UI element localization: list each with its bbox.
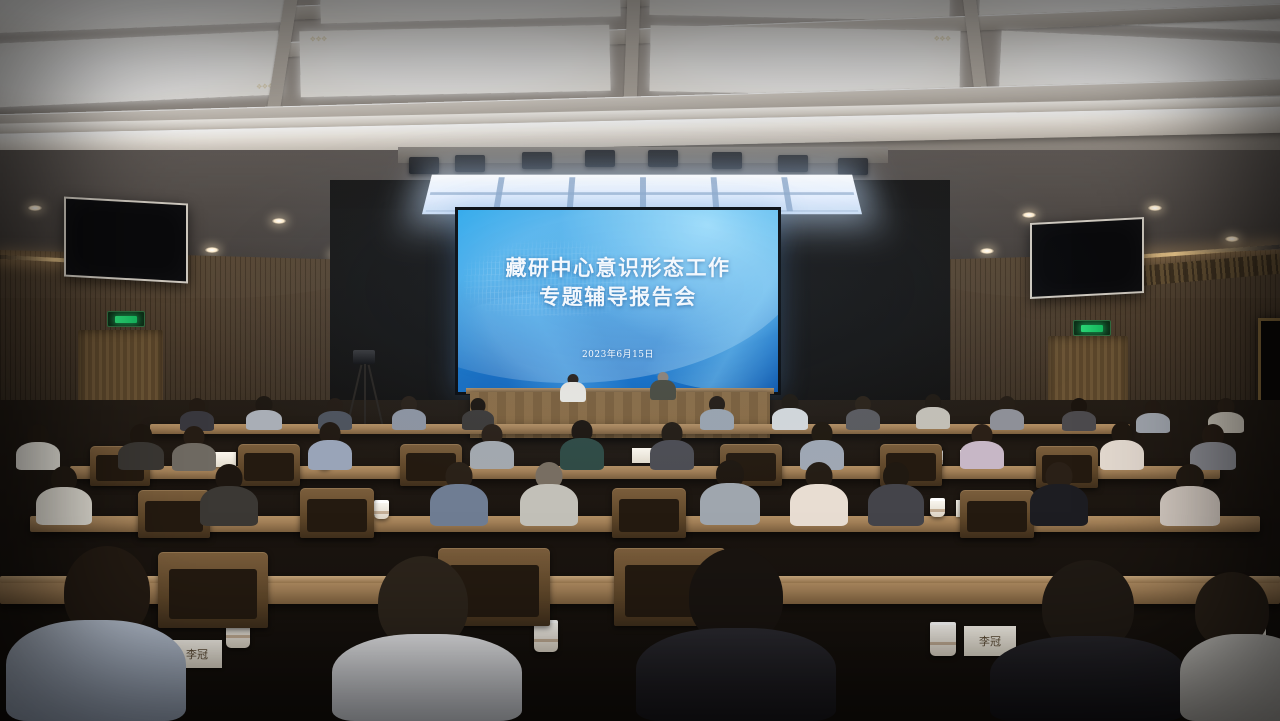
audience-person xyxy=(246,396,282,430)
audience-person xyxy=(520,462,578,524)
audience-person xyxy=(392,396,426,430)
paper-cup xyxy=(930,622,956,656)
person-body xyxy=(916,407,950,429)
speaker-right xyxy=(648,372,678,404)
audience-person xyxy=(36,466,92,524)
stage-spotlight xyxy=(409,157,439,174)
person-body xyxy=(1062,411,1096,431)
downlight xyxy=(205,247,219,253)
stage-spotlight xyxy=(838,158,868,175)
person-body xyxy=(246,410,282,430)
audience-chair[interactable] xyxy=(960,490,1034,538)
audience-person-foreground xyxy=(6,546,186,721)
stage-spotlight xyxy=(455,155,485,172)
stage-spotlight xyxy=(585,150,615,167)
audience-person-foreground xyxy=(1180,572,1280,721)
audience-person-foreground xyxy=(332,556,522,721)
audience-person xyxy=(1160,464,1220,524)
person-body xyxy=(790,484,848,526)
audience-person xyxy=(846,396,880,430)
downlight xyxy=(1225,236,1239,242)
person-body xyxy=(36,487,92,525)
person-body xyxy=(1180,634,1280,721)
slide-canvas: 藏研中心意识形态工作 专题辅导报告会 2023年6月15日 xyxy=(458,210,778,392)
exit-icon xyxy=(115,316,137,323)
ceiling-mullion xyxy=(624,0,642,106)
stage-spotlight xyxy=(648,150,678,167)
audience-person xyxy=(790,462,848,524)
ceiling-light-panel: ❖❖❖ xyxy=(649,25,960,96)
conference-hall-photo: ❖❖❖ ❖❖❖ ❖❖❖ ❖❖❖ ❖❖❖ xyxy=(0,0,1280,721)
paper-cup xyxy=(374,500,389,519)
stage-spotlight xyxy=(712,152,742,169)
ceiling-light-panel: ❖❖❖ ❖❖❖ xyxy=(0,31,281,110)
downlight xyxy=(1148,205,1162,211)
person-body xyxy=(990,636,1186,721)
exit-sign-left xyxy=(107,311,145,327)
ceiling-light-panel xyxy=(0,0,291,34)
speaker-left xyxy=(558,374,588,404)
slide-title-line1: 藏研中心意识形态工作 xyxy=(458,254,778,284)
stage-spotlight xyxy=(522,152,552,169)
tripod-leg xyxy=(364,364,366,430)
audience-chair[interactable] xyxy=(612,488,686,538)
video-camera-icon xyxy=(353,350,375,364)
person-body xyxy=(650,440,694,470)
projection-screen: 藏研中心意识形态工作 专题辅导报告会 2023年6月15日 xyxy=(455,207,781,395)
slide-date: 2023年6月15日 xyxy=(458,347,778,360)
person-body xyxy=(636,628,836,721)
wall-monitor-left[interactable] xyxy=(64,197,188,284)
audience-person xyxy=(308,422,352,470)
exit-sign-right xyxy=(1073,320,1111,336)
person-body xyxy=(846,409,880,430)
audience-person xyxy=(868,462,924,524)
audience-person xyxy=(1030,462,1088,524)
person-body xyxy=(118,442,164,470)
person-body xyxy=(700,483,760,525)
downlight xyxy=(272,218,286,224)
person-body xyxy=(1100,440,1144,470)
person-body xyxy=(1160,486,1220,526)
person-body xyxy=(960,441,1004,469)
audience-person xyxy=(700,396,734,430)
slide-title-line2: 专题辅导报告会 xyxy=(458,283,778,313)
audience-person xyxy=(1100,422,1144,470)
audience-person xyxy=(650,422,694,470)
wall-monitor-right[interactable] xyxy=(1030,217,1144,299)
ceiling-ornament: ❖❖❖ xyxy=(933,34,950,43)
coffered-ceiling: ❖❖❖ ❖❖❖ ❖❖❖ ❖❖❖ ❖❖❖ xyxy=(0,0,1280,150)
person-body xyxy=(1030,484,1088,526)
audience-person xyxy=(960,424,1004,470)
ceiling-light-panel xyxy=(319,0,620,24)
speaker-body xyxy=(650,380,676,400)
person-body xyxy=(520,484,578,526)
person-body xyxy=(200,486,258,526)
downlight xyxy=(28,205,42,211)
exit-icon xyxy=(1081,325,1103,332)
person-body xyxy=(392,409,426,430)
audience-chair[interactable] xyxy=(300,488,374,538)
audience-person xyxy=(16,424,60,470)
ceiling-light-panel: ❖❖❖ xyxy=(299,25,610,97)
paper-cup xyxy=(930,498,945,517)
audience-person xyxy=(1062,398,1096,430)
downlight xyxy=(1022,212,1036,218)
audience-person-foreground xyxy=(990,560,1186,721)
tripod-leg xyxy=(368,365,385,430)
audience-person xyxy=(700,460,760,524)
person-body xyxy=(332,634,522,721)
person-body xyxy=(6,620,186,721)
audience-person xyxy=(430,462,488,524)
person-body xyxy=(700,409,734,430)
person-body xyxy=(308,440,352,470)
speaker-body xyxy=(560,382,586,402)
audience-person xyxy=(200,464,258,524)
audience-person xyxy=(118,424,164,470)
person-body xyxy=(868,484,924,526)
audience-person-foreground xyxy=(636,548,836,721)
downlight xyxy=(980,248,994,254)
ceiling-ornament: ❖❖❖ xyxy=(310,35,327,44)
audience-person xyxy=(916,394,950,430)
slide-title: 藏研中心意识形态工作 专题辅导报告会 xyxy=(458,254,778,314)
stage-spotlight xyxy=(778,155,808,172)
person-body xyxy=(430,484,488,526)
